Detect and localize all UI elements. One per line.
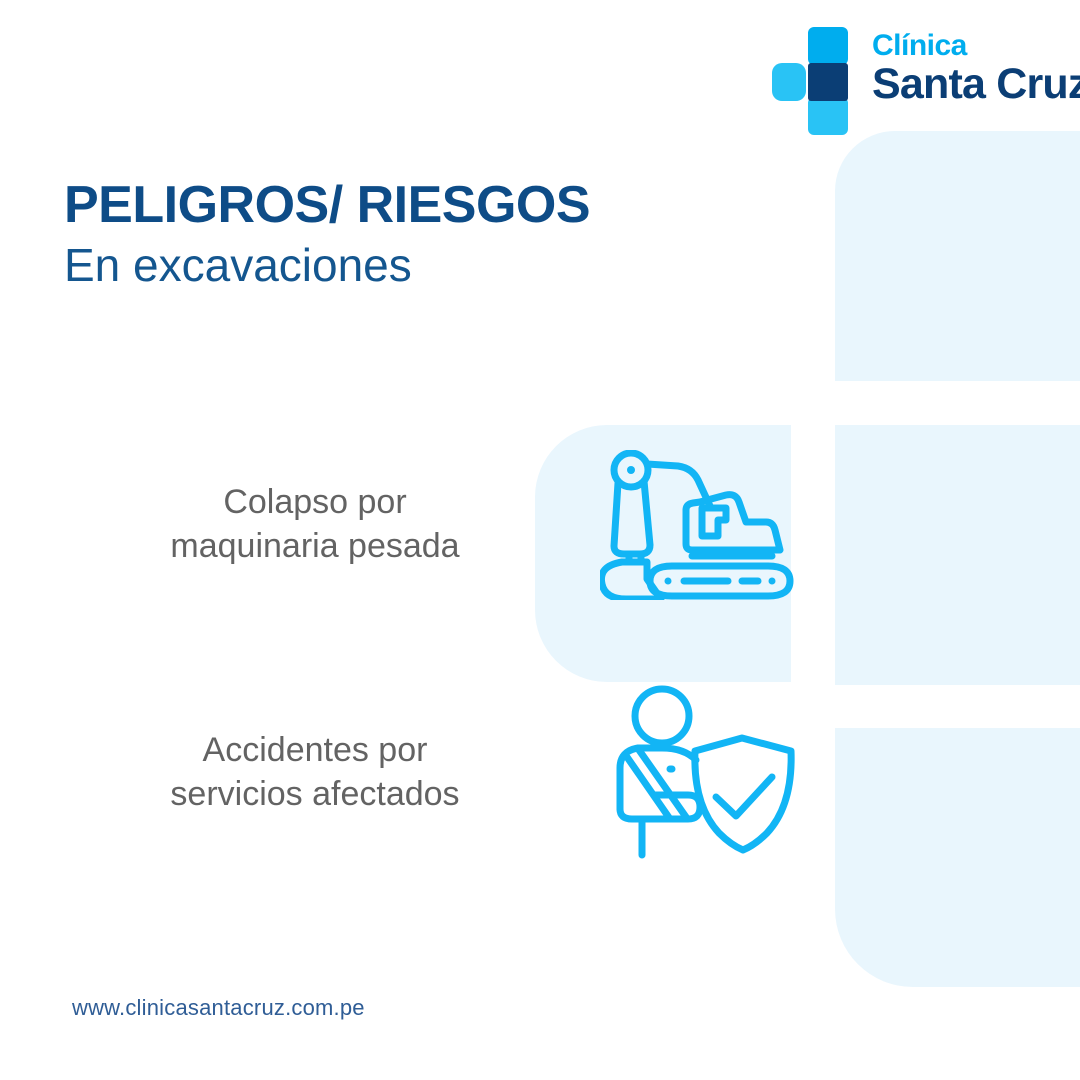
decorative-panel-top-right	[835, 131, 1080, 381]
risk-label-line1: Accidentes por	[60, 729, 570, 773]
brand-logo-line2: Santa Cruz	[872, 63, 1052, 106]
risk-label-line2: servicios afectados	[60, 773, 570, 817]
brand-logo-line1: Clínica	[872, 31, 1052, 61]
footer-website-url[interactable]: www.clinicasantacruz.com.pe	[72, 995, 365, 1021]
injured-person-shield-icon	[570, 685, 830, 860]
brand-logo-text: Clínica Santa Cruz	[872, 31, 1052, 106]
risk-label-line1: Colapso por	[60, 481, 570, 525]
brand-logo: Clínica Santa Cruz	[772, 27, 1044, 135]
risk-label-line2: maquinaria pesada	[60, 525, 570, 569]
excavator-icon	[570, 450, 830, 600]
page-title: PELIGROS/ RIESGOS	[64, 178, 764, 232]
page-subtitle: En excavaciones	[64, 240, 764, 292]
medical-cross-icon	[772, 27, 884, 135]
poster-canvas: Clínica Santa Cruz PELIGROS/ RIESGOS En …	[0, 0, 1080, 1080]
headline-block: PELIGROS/ RIESGOS En excavaciones	[64, 178, 764, 292]
risk-label: Accidentes por servicios afectados	[60, 729, 570, 816]
risk-label: Colapso por maquinaria pesada	[60, 481, 570, 568]
risk-item: Accidentes por servicios afectados	[60, 680, 920, 865]
risk-item: Colapso por maquinaria pesada	[60, 440, 920, 610]
